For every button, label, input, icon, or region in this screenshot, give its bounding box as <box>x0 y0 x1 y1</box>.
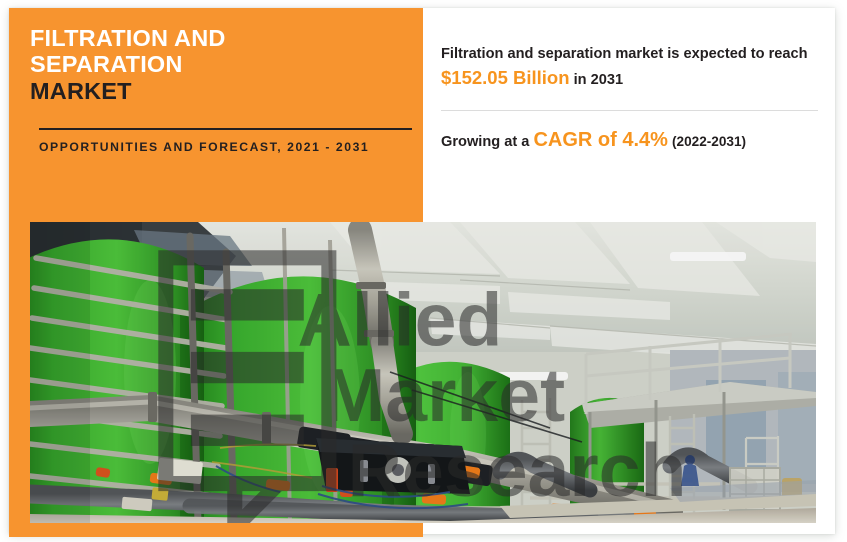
market-size-prefix: Filtration and separation market is expe… <box>441 46 808 62</box>
allied-market-research-watermark: Allied Market Research <box>55 239 151 287</box>
title-line-1: FILTRATION AND <box>30 25 226 51</box>
title-block: FILTRATION AND SEPARATION MARKET <box>30 25 406 104</box>
title-line-3: MARKET <box>30 78 132 104</box>
stats-divider <box>441 110 818 111</box>
title-line-2: SEPARATION <box>30 51 183 77</box>
watermark-line-3: Research <box>348 428 687 512</box>
infographic-root: FILTRATION AND SEPARATION MARKET OPPORTU… <box>0 0 847 542</box>
filtration-plant-photo: Allied Market Research <box>30 222 816 523</box>
page-title: FILTRATION AND SEPARATION MARKET <box>30 25 406 104</box>
market-size-suffix: in 2031 <box>574 72 624 88</box>
watermark-line-2: Market <box>323 353 566 437</box>
stats-panel: Filtration and separation market is expe… <box>441 44 819 92</box>
title-divider <box>39 128 412 130</box>
subtitle: OPPORTUNITIES AND FORECAST, 2021 - 2031 <box>39 139 414 156</box>
cagr-value: CAGR of 4.4% <box>533 129 667 151</box>
cagr-statement: Growing at a CAGR of 4.4% (2022-2031) <box>441 129 819 152</box>
cagr-prefix: Growing at a <box>441 134 529 150</box>
market-size-value: $152.05 Billion <box>441 67 570 88</box>
cagr-period: (2022-2031) <box>672 134 746 149</box>
watermark-line-1: Allied <box>298 278 503 362</box>
market-size-statement: Filtration and separation market is expe… <box>441 44 819 92</box>
